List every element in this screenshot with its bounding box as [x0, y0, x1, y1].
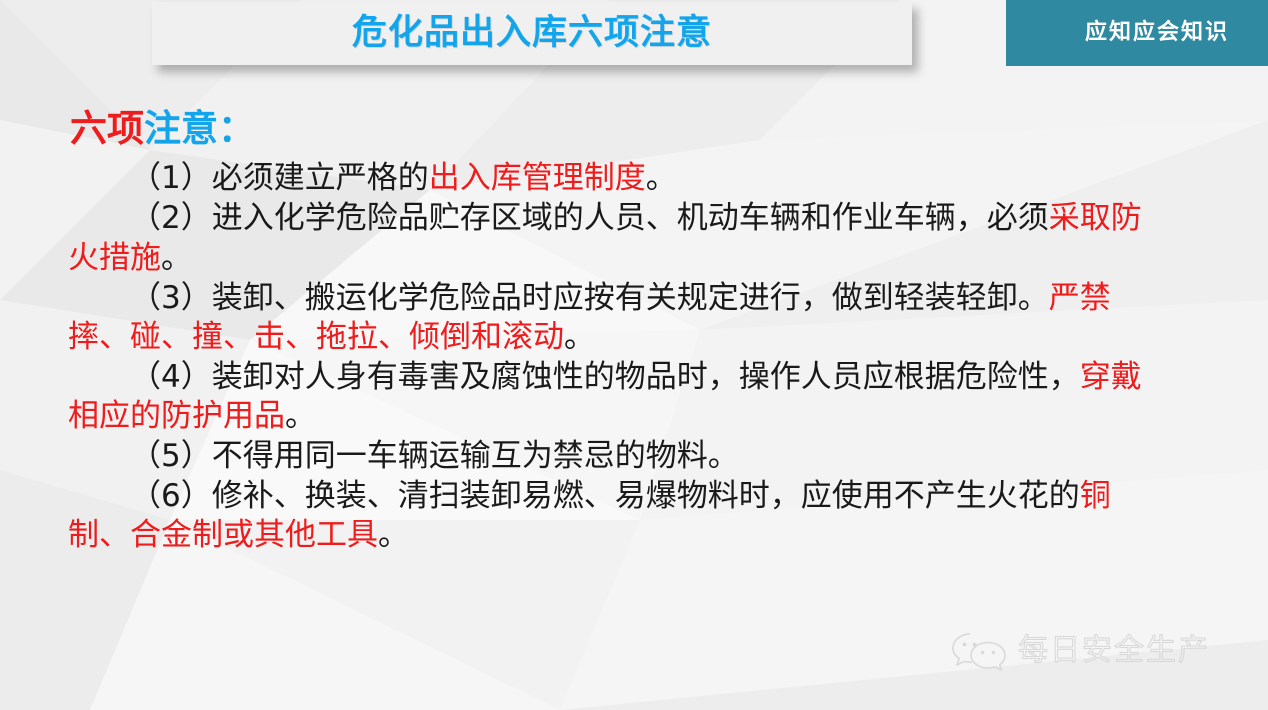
- list-item: （2）进入化学危险品贮存区域的人员、机动车辆和作业车辆，必须采取防火措施。: [68, 199, 1158, 277]
- content-area: 六项注意： （1）必须建立严格的出入库管理制度。（2）进入化学危险品贮存区域的人…: [0, 108, 1268, 556]
- body-text: （2）进入化学危险品贮存区域的人员、机动车辆和作业车辆，必须: [130, 200, 1049, 236]
- highlighted-text: 出入库管理制度: [429, 160, 646, 196]
- watermark-label: 每日安全生产: [1018, 636, 1210, 666]
- body-text: 。: [646, 160, 677, 196]
- list-item: （1）必须建立严格的出入库管理制度。: [68, 159, 1158, 198]
- body-text: 。: [378, 517, 409, 553]
- body-text: 。: [161, 240, 192, 276]
- body-text: （3）装卸、搬运化学危险品时应按有关规定进行，做到轻装轻卸。: [130, 280, 1049, 316]
- list-item: （4）装卸对人身有毒害及腐蚀性的物品时，操作人员应根据危险性，穿戴相应的防护用品…: [68, 358, 1158, 436]
- body-text: 。: [564, 319, 595, 355]
- body-text: （6）修补、换装、清扫装卸易燃、易爆物料时，应使用不产生火花的: [130, 478, 1080, 514]
- body-text: 。: [285, 398, 316, 434]
- status-badge: 应知应会知识: [1006, 0, 1268, 66]
- body-text: （5）不得用同一车辆运输互为禁忌的物料。: [130, 438, 739, 474]
- watermark: 每日安全生产: [950, 630, 1210, 672]
- list-item: （6）修补、换装、清扫装卸易燃、易爆物料时，应使用不产生火花的铜制、合金制或其他…: [68, 477, 1158, 555]
- section-heading-blue: 注意：: [144, 107, 255, 150]
- list-item: （3）装卸、搬运化学危险品时应按有关规定进行，做到轻装轻卸。严禁摔、碰、撞、击、…: [68, 279, 1158, 357]
- status-badge-label: 应知应会知识: [1045, 22, 1229, 44]
- section-heading-red: 六项: [70, 107, 144, 150]
- slide-canvas: 危化品出入库六项注意 应知应会知识 六项注意： （1）必须建立严格的出入库管理制…: [0, 0, 1268, 710]
- list-item: （5）不得用同一车辆运输互为禁忌的物料。: [68, 437, 1158, 476]
- page-title: 危化品出入库六项注意: [352, 16, 712, 51]
- body-text: （4）装卸对人身有毒害及腐蚀性的物品时，操作人员应根据危险性，: [130, 359, 1080, 395]
- wechat-icon: [950, 630, 1008, 672]
- section-heading: 六项注意：: [70, 108, 1268, 149]
- notice-list: （1）必须建立严格的出入库管理制度。（2）进入化学危险品贮存区域的人员、机动车辆…: [68, 159, 1158, 554]
- body-text: （1）必须建立严格的: [130, 160, 429, 196]
- title-panel: 危化品出入库六项注意: [152, 2, 912, 65]
